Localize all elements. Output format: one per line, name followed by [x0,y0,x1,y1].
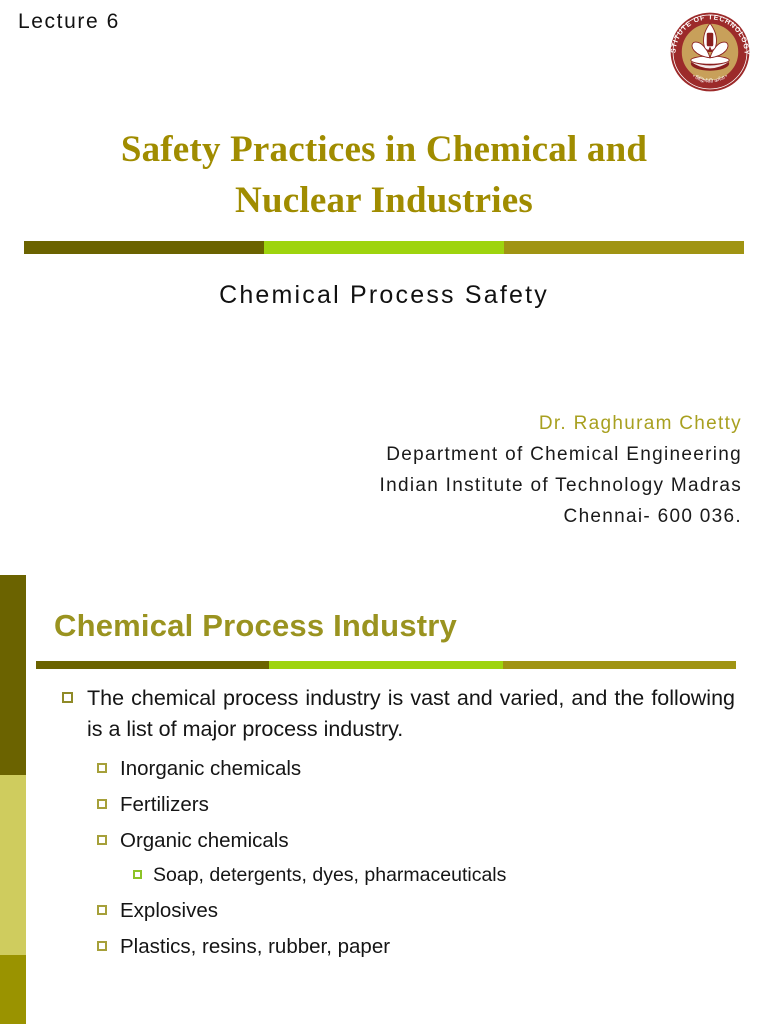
accent-bar-segment-2 [264,241,504,254]
page-title: Safety Practices in Chemical and Nuclear… [60,124,708,226]
bullet-square-icon [133,870,142,879]
bullet-square-icon [97,763,107,773]
section-heading: Chemical Process Industry [54,608,457,644]
lecture-label: Lecture 6 [18,10,120,34]
section-accent-bar-segment-3 [503,661,736,669]
bullet-square-icon [97,905,107,915]
bullet-item-label: Organic chemicals [120,826,289,855]
bullet-item-level-3: Soap, detergents, dyes, pharmaceuticals [0,862,768,889]
slide-deck-page: Lecture 6 INDIAN INSTITUTE OF TECHNOLOGY… [0,0,768,1024]
bullet-square-icon [62,692,73,703]
bullet-item-level-2: Fertilizers [0,790,768,819]
author-institute: Indian Institute of Technology Madras [182,470,742,501]
author-city: Chennai- 600 036. [182,501,742,532]
bullet-item-level-2: Organic chemicals [0,826,768,855]
bullet-item-level-2: Explosives [0,896,768,925]
section-accent-bar [36,661,736,669]
iit-madras-seal-icon: INDIAN INSTITUTE OF TECHNOLOGY MADRAS • … [660,4,760,100]
bullet-item-level-2: Plastics, resins, rubber, paper [0,932,768,961]
bullet-item-label: Inorganic chemicals [120,754,301,783]
bullet-item-label: Fertilizers [120,790,209,819]
title-slide: Lecture 6 INDIAN INSTITUTE OF TECHNOLOGY… [0,0,768,572]
bullet-square-icon [97,835,107,845]
bullet-item-label: Soap, detergents, dyes, pharmaceuticals [153,862,506,889]
author-block: Dr. Raghuram Chetty Department of Chemic… [182,408,742,532]
bullet-item-level-2: Inorganic chemicals [0,754,768,783]
page-subtitle: Chemical Process Safety [60,281,708,310]
title-accent-bar [24,241,744,254]
bullet-item-label: Explosives [120,896,218,925]
bullet-item-level-1: The chemical process industry is vast an… [0,683,768,745]
bullet-list: The chemical process industry is vast an… [0,683,768,968]
accent-bar-segment-3 [504,241,744,254]
bullet-item-label: The chemical process industry is vast an… [87,683,735,745]
section-accent-bar-segment-2 [269,661,503,669]
author-name: Dr. Raghuram Chetty [182,408,742,439]
bullet-square-icon [97,941,107,951]
bullet-square-icon [97,799,107,809]
author-department: Department of Chemical Engineering [182,439,742,470]
accent-bar-segment-1 [24,241,264,254]
section-accent-bar-segment-1 [36,661,269,669]
bullet-item-label: Plastics, resins, rubber, paper [120,932,390,961]
